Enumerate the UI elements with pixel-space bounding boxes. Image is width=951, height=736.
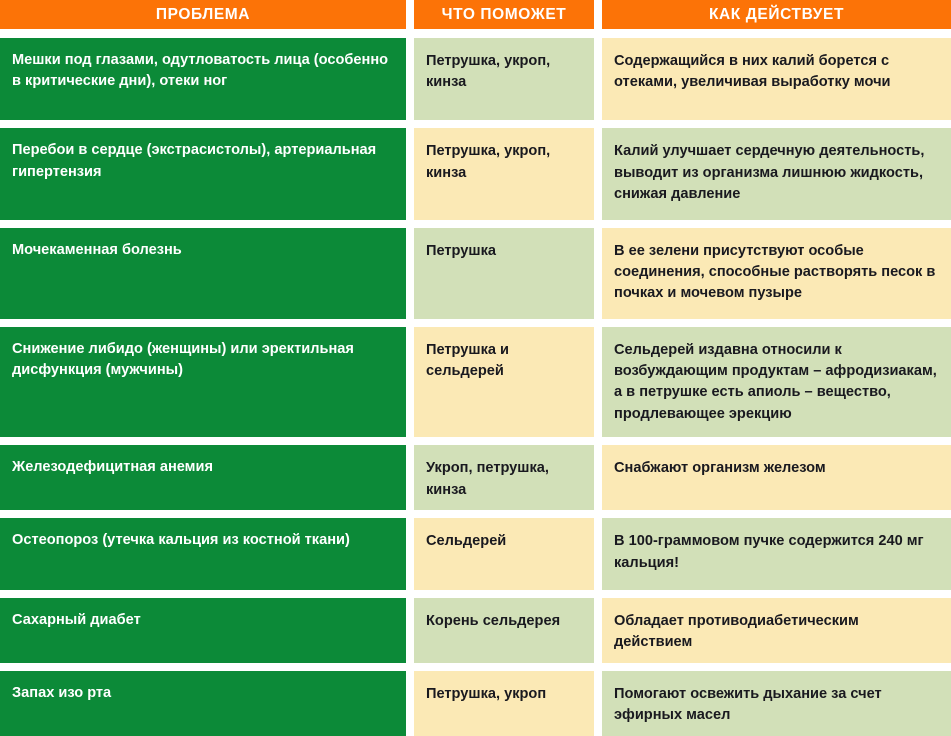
cell-problem: Перебои в сердце (экстрасистолы), артери… bbox=[0, 128, 406, 219]
column-gap bbox=[594, 38, 602, 120]
column-gap bbox=[594, 327, 602, 438]
column-gap bbox=[406, 0, 414, 29]
cell-problem: Мочекаменная болезнь bbox=[0, 228, 406, 319]
cell-action: Снабжают организм железом bbox=[602, 445, 951, 510]
column-gap bbox=[594, 671, 602, 736]
table-row: Остеопороз (утечка кальция из костной тк… bbox=[0, 518, 951, 590]
column-gap bbox=[594, 0, 602, 29]
cell-action: В 100-граммовом пучке содержится 240 мг … bbox=[602, 518, 951, 590]
cell-action: Калий улучшает сердечную деятельность, в… bbox=[602, 128, 951, 219]
cell-remedy: Петрушка, укроп, кинза bbox=[414, 38, 594, 120]
column-gap bbox=[406, 518, 414, 590]
cell-problem: Запах изо рта bbox=[0, 671, 406, 736]
column-gap bbox=[594, 128, 602, 219]
cell-action: Сельдерей издавна относили к возбуждающи… bbox=[602, 327, 951, 438]
cell-remedy: Петрушка, укроп, кинза bbox=[414, 128, 594, 219]
cell-remedy: Петрушка, укроп bbox=[414, 671, 594, 736]
cell-action: Помогают освежить дыхание за счет эфирны… bbox=[602, 671, 951, 736]
column-gap bbox=[406, 128, 414, 219]
cell-problem: Остеопороз (утечка кальция из костной тк… bbox=[0, 518, 406, 590]
cell-problem: Сахарный диабет bbox=[0, 598, 406, 663]
column-gap bbox=[594, 228, 602, 319]
header-remedy: ЧТО ПОМОЖЕТ bbox=[414, 0, 594, 29]
table-header-row: ПРОБЛЕМА ЧТО ПОМОЖЕТ КАК ДЕЙСТВУЕТ bbox=[0, 0, 951, 29]
cell-remedy: Петрушка bbox=[414, 228, 594, 319]
header-action: КАК ДЕЙСТВУЕТ bbox=[602, 0, 951, 29]
table-row: Перебои в сердце (экстрасистолы), артери… bbox=[0, 128, 951, 219]
cell-problem: Железодефицитная анемия bbox=[0, 445, 406, 510]
table-row: Запах изо рта Петрушка, укроп Помогают о… bbox=[0, 671, 951, 736]
column-gap bbox=[594, 445, 602, 510]
cell-remedy: Корень сельдерея bbox=[414, 598, 594, 663]
cell-problem: Снижение либидо (женщины) или эректильна… bbox=[0, 327, 406, 438]
column-gap bbox=[406, 445, 414, 510]
cell-remedy: Петрушка и сельдерей bbox=[414, 327, 594, 438]
benefits-table: ПРОБЛЕМА ЧТО ПОМОЖЕТ КАК ДЕЙСТВУЕТ Мешки… bbox=[0, 0, 951, 736]
cell-remedy: Сельдерей bbox=[414, 518, 594, 590]
table-row: Мешки под глазами, одутловатость лица (о… bbox=[0, 38, 951, 120]
cell-action: В ее зелени присутствуют особые соединен… bbox=[602, 228, 951, 319]
table-row: Снижение либидо (женщины) или эректильна… bbox=[0, 327, 951, 438]
column-gap bbox=[594, 518, 602, 590]
table-row: Сахарный диабет Корень сельдерея Обладае… bbox=[0, 598, 951, 663]
cell-remedy: Укроп, петрушка, кинза bbox=[414, 445, 594, 510]
column-gap bbox=[406, 38, 414, 120]
column-gap bbox=[406, 671, 414, 736]
header-problem: ПРОБЛЕМА bbox=[0, 0, 406, 29]
column-gap bbox=[406, 327, 414, 438]
cell-action: Содержащийся в них калий борется с отека… bbox=[602, 38, 951, 120]
table-row: Мочекаменная болезнь Петрушка В ее зелен… bbox=[0, 228, 951, 319]
column-gap bbox=[594, 598, 602, 663]
cell-action: Обладает противодиабетическим действием bbox=[602, 598, 951, 663]
cell-problem: Мешки под глазами, одутловатость лица (о… bbox=[0, 38, 406, 120]
column-gap bbox=[406, 598, 414, 663]
column-gap bbox=[406, 228, 414, 319]
table-row: Железодефицитная анемия Укроп, петрушка,… bbox=[0, 445, 951, 510]
